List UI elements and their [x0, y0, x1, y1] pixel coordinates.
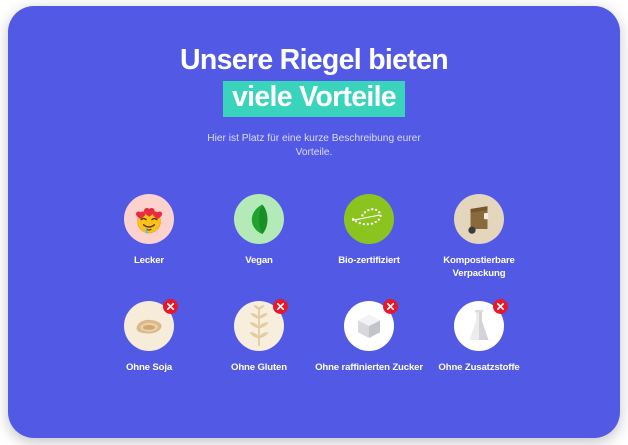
- benefit-item-lecker[interactable]: Lecker: [94, 194, 204, 280]
- benefit-item-ohne-soja[interactable]: Ohne Soja: [94, 301, 204, 375]
- benefit-icon-wrap: [344, 194, 394, 244]
- benefit-label: Bio-zertifiziert: [338, 255, 400, 268]
- header: Unsere Riegel bieten viele Vorteile Hier…: [8, 6, 620, 161]
- benefit-icon-wrap: [234, 301, 284, 351]
- page-title-line-1: Unsere Riegel bieten: [8, 44, 620, 77]
- benefit-item-vegan[interactable]: Vegan: [204, 194, 314, 280]
- close-x-icon: [276, 302, 285, 311]
- green-leaf-icon: [234, 194, 284, 244]
- benefit-icon-wrap: [454, 194, 504, 244]
- benefit-item-kompostierbare-verpackung[interactable]: Kompostierbare Verpackung: [424, 194, 534, 280]
- page-title-line-2: viele Vorteile: [8, 81, 620, 116]
- benefit-item-bio-zertifiziert[interactable]: Bio-zertifiziert: [314, 194, 424, 280]
- benefit-icon-wrap: [124, 194, 174, 244]
- benefits-row-1: Lecker Vegan: [8, 194, 620, 280]
- benefit-label: Ohne Gluten: [231, 362, 287, 375]
- benefit-label: Ohne Zusatzstoffe: [438, 362, 519, 375]
- close-x-icon: [166, 302, 175, 311]
- benefit-label: Kompostierbare Verpackung: [425, 255, 533, 280]
- benefit-label: Vegan: [245, 255, 273, 268]
- close-x-icon: [386, 302, 395, 311]
- benefits-card: Unsere Riegel bieten viele Vorteile Hier…: [8, 6, 620, 438]
- page-title-highlight: viele Vorteile: [223, 81, 405, 116]
- eu-organic-leaf-stars-icon: [344, 194, 394, 244]
- benefit-label: Lecker: [134, 255, 164, 268]
- compost-bin-icon: [454, 194, 504, 244]
- benefit-icon-wrap: [124, 301, 174, 351]
- smiling-face-with-hearts-emoji-icon: [124, 194, 174, 244]
- benefit-icon-wrap: [454, 301, 504, 351]
- benefit-label: Ohne raffinierten Zucker: [315, 362, 423, 375]
- exclusion-badge: [493, 299, 508, 314]
- benefit-item-ohne-raffinierten-zucker[interactable]: Ohne raffinierten Zucker: [314, 301, 424, 375]
- benefit-item-ohne-zusatzstoffe[interactable]: Ohne Zusatzstoffe: [424, 301, 534, 375]
- benefits-row-2: Ohne Soja: [8, 301, 620, 375]
- benefit-label: Ohne Soja: [126, 362, 172, 375]
- close-x-icon: [496, 302, 505, 311]
- benefit-icon-wrap: [234, 194, 284, 244]
- page-subtitle: Hier ist Platz für eine kurze Beschreibu…: [199, 132, 429, 162]
- exclusion-badge: [383, 299, 398, 314]
- exclusion-badge: [163, 299, 178, 314]
- exclusion-badge: [273, 299, 288, 314]
- benefit-icon-wrap: [344, 301, 394, 351]
- benefit-item-ohne-gluten[interactable]: Ohne Gluten: [204, 301, 314, 375]
